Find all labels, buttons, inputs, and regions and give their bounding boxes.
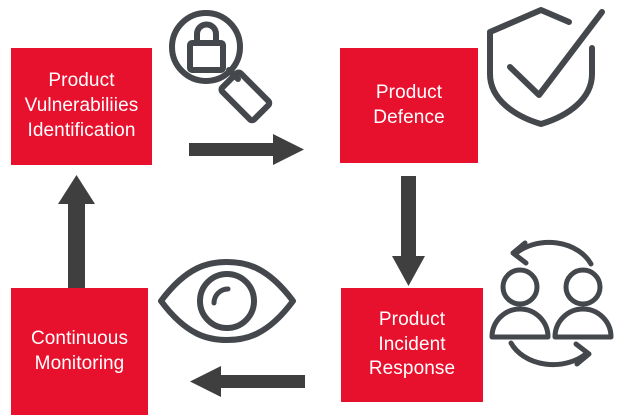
people-cycle-icon [487, 238, 615, 370]
process-node-vulnerabilities[interactable]: Product Vulnerabiliies Identification [11, 48, 152, 165]
process-node-continuous-monitoring[interactable]: Continuous Monitoring [11, 288, 148, 415]
connector-arrow-down [391, 176, 426, 287]
process-cycle-diagram: Product Vulnerabiliies Identification Pr… [0, 0, 623, 415]
magnifier-lock-icon [166, 6, 278, 116]
process-node-defence[interactable]: Product Defence [340, 48, 478, 163]
process-node-label: Product Defence [373, 81, 444, 130]
connector-arrow-right [189, 134, 305, 165]
eye-icon [157, 258, 298, 344]
connector-arrow-left [189, 366, 306, 397]
connector-arrow-up [57, 175, 96, 289]
process-node-label: Continuous Monitoring [31, 327, 128, 376]
shield-check-icon [484, 6, 608, 128]
process-node-incident-response[interactable]: Product Incident Response [341, 288, 483, 402]
process-node-label: Product Incident Response [369, 308, 455, 382]
process-node-label: Product Vulnerabiliies Identification [25, 69, 139, 143]
